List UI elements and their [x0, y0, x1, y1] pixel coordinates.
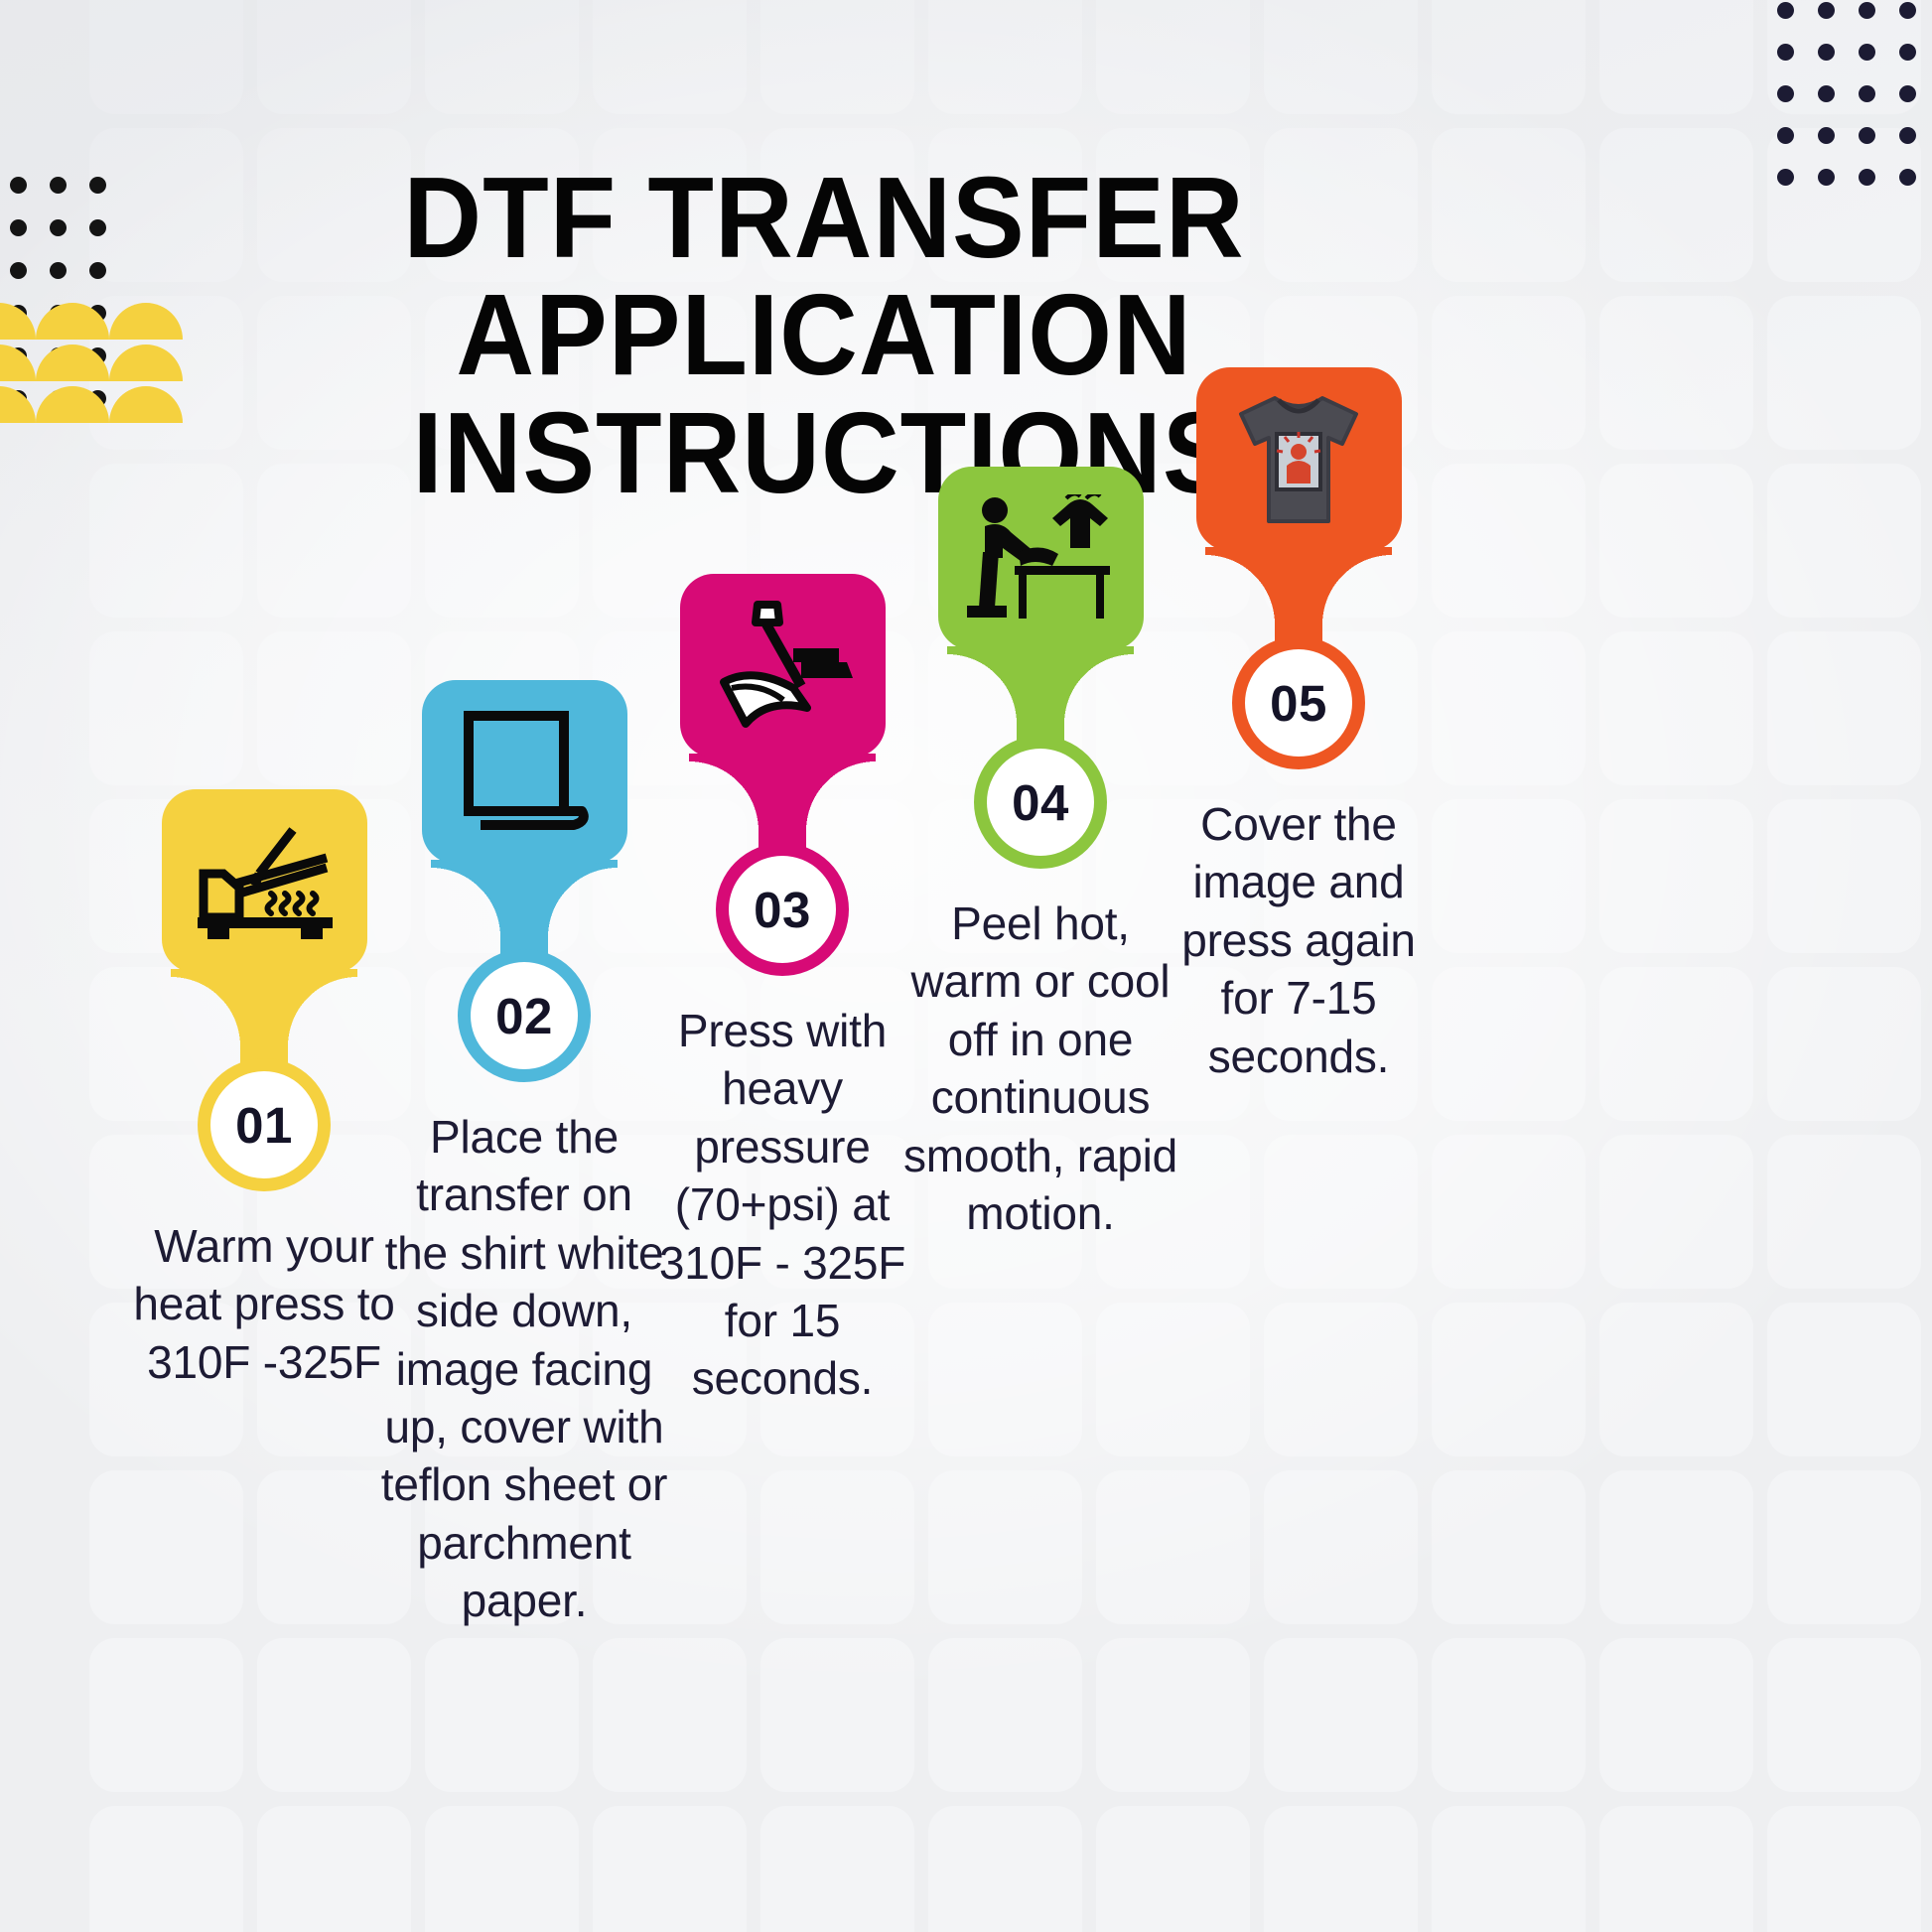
grid-tile — [1432, 128, 1586, 282]
grid-tile — [1432, 631, 1586, 785]
decor-semicircle — [36, 386, 109, 423]
step-number-label: 03 — [754, 881, 811, 939]
decor-semicircle — [0, 303, 36, 340]
step-marker-05: 05Cover the image and press again for 7-… — [1150, 367, 1448, 1085]
decor-dot — [1859, 44, 1875, 61]
grid-tile — [1599, 1135, 1753, 1289]
grid-tile — [1432, 1806, 1586, 1932]
grid-tile — [1096, 0, 1250, 114]
grid-tile — [928, 1470, 1082, 1624]
decor-dot — [1818, 85, 1835, 102]
decor-dot — [1777, 127, 1794, 144]
grid-tile — [1767, 1135, 1921, 1289]
grid-tile — [1767, 1638, 1921, 1792]
decor-dot — [1777, 85, 1794, 102]
decor-dot — [1859, 127, 1875, 144]
decor-dot — [10, 177, 27, 194]
neck-mask-left — [689, 754, 759, 831]
grid-tile — [89, 631, 243, 785]
grid-tile — [1432, 1470, 1586, 1624]
step-number-label: 04 — [1012, 773, 1069, 832]
grid-tile — [257, 0, 411, 114]
transfer-sheet-icon — [455, 708, 594, 837]
grid-tile — [1599, 1470, 1753, 1624]
grid-tile — [1599, 1638, 1753, 1792]
neck-mask-left — [1205, 547, 1275, 624]
grid-tile — [425, 1806, 579, 1932]
grid-tile — [89, 1806, 243, 1932]
neck-mask-right — [288, 969, 357, 1046]
decor-dot — [1859, 169, 1875, 186]
step-number-bubble-01: 01 — [198, 1058, 331, 1191]
grid-tile — [593, 1638, 747, 1792]
decor-dot — [1899, 127, 1916, 144]
grid-tile — [1096, 1470, 1250, 1624]
grid-tile — [1432, 799, 1586, 953]
decor-dot — [89, 390, 106, 407]
grid-tile — [1264, 0, 1418, 114]
step-marker-01: 01Warm your heat press to 310F -325F — [115, 789, 413, 1391]
grid-tile — [1096, 1638, 1250, 1792]
decor-dot — [1859, 2, 1875, 19]
grid-tile — [1599, 1303, 1753, 1456]
grid-tile — [1264, 1135, 1418, 1289]
grid-tile — [1599, 296, 1753, 450]
grid-tile — [1599, 464, 1753, 618]
grid-tile — [1264, 1638, 1418, 1792]
decor-dot — [89, 305, 106, 322]
decor-dot — [50, 177, 67, 194]
neck-mask-right — [806, 754, 876, 831]
decor-semicircle — [109, 303, 183, 340]
decor-dot — [10, 305, 27, 322]
decor-dot — [89, 347, 106, 364]
grid-tile — [1767, 1303, 1921, 1456]
grid-tile — [1599, 0, 1753, 114]
grid-tile — [928, 1638, 1082, 1792]
step-number-bubble-04: 04 — [974, 736, 1107, 869]
decor-dot — [1818, 2, 1835, 19]
grid-tile — [1767, 0, 1921, 114]
grid-tile — [1432, 1135, 1586, 1289]
decor-semicircle — [36, 345, 109, 381]
neck-mask-left — [947, 646, 1017, 724]
grid-tile — [593, 1806, 747, 1932]
step-number-label: 01 — [235, 1096, 293, 1155]
grid-tile — [1599, 1806, 1753, 1932]
decor-dot — [10, 390, 27, 407]
grid-tile — [1264, 1470, 1418, 1624]
grid-tile — [89, 1638, 243, 1792]
step-number-label: 02 — [495, 987, 553, 1045]
grid-tile — [1264, 1303, 1418, 1456]
grid-tile — [257, 1806, 411, 1932]
grid-tile — [928, 1806, 1082, 1932]
neck-mask-left — [431, 860, 500, 937]
decor-semicircle — [109, 386, 183, 423]
step-icon-card-05 — [1196, 367, 1402, 551]
grid-tile — [257, 1638, 411, 1792]
grid-tile — [1599, 967, 1753, 1121]
grid-tile — [760, 0, 914, 114]
grid-tile — [1599, 799, 1753, 953]
grid-tile — [425, 1638, 579, 1792]
grid-tile — [1432, 464, 1586, 618]
step-icon-card-03 — [680, 574, 886, 758]
decor-dot — [1859, 85, 1875, 102]
grid-tile — [1767, 464, 1921, 618]
step-caption-05: Cover the image and press again for 7-15… — [1155, 795, 1443, 1085]
step-marker-03: 03Press with heavy pressure (70+psi) at … — [633, 574, 931, 1408]
step-caption-04: Peel hot, warm or cool off in one contin… — [897, 895, 1184, 1242]
decor-dot — [1899, 44, 1916, 61]
decor-dot — [10, 347, 27, 364]
grid-tile — [1767, 296, 1921, 450]
decor-semicircle — [109, 345, 183, 381]
step-number-bubble-03: 03 — [716, 843, 849, 976]
grid-tile — [1767, 967, 1921, 1121]
grid-tile — [928, 1303, 1082, 1456]
decor-dot — [89, 177, 106, 194]
grid-tile — [1432, 1638, 1586, 1792]
neck-mask-left — [171, 969, 240, 1046]
step-marker-02: 02Place the transfer on the shirt white … — [375, 680, 673, 1630]
decor-dot — [1818, 169, 1835, 186]
grid-tile — [1264, 1806, 1418, 1932]
grid-tile — [1432, 967, 1586, 1121]
neck-mask-right — [1322, 547, 1392, 624]
decor-dot — [1818, 44, 1835, 61]
step-caption-02: Place the transfer on the shirt white si… — [380, 1108, 668, 1630]
infographic-poster: DTF TRANSFER APPLICATION INSTRUCTIONS — [0, 0, 1932, 1932]
heat-press-icon — [190, 822, 339, 941]
step-icon-card-04 — [938, 467, 1144, 650]
grid-tile — [1096, 1806, 1250, 1932]
grid-tile — [1767, 631, 1921, 785]
decor-dot — [50, 262, 67, 279]
decor-dot — [1777, 169, 1794, 186]
grid-tile — [760, 1806, 914, 1932]
step-caption-03: Press with heavy pressure (70+psi) at 31… — [638, 1002, 926, 1408]
grid-tile — [1096, 1303, 1250, 1456]
decor-semicircle — [0, 386, 36, 423]
grid-tile — [1767, 1806, 1921, 1932]
decor-dot — [1777, 2, 1794, 19]
grid-tile — [1432, 296, 1586, 450]
step-icon-card-02 — [422, 680, 627, 864]
decor-dot — [50, 347, 67, 364]
grid-tile — [1767, 1470, 1921, 1624]
grid-tile — [1432, 0, 1586, 114]
decor-dot — [50, 305, 67, 322]
grid-tile — [1599, 631, 1753, 785]
decor-dot — [89, 219, 106, 236]
peeling-person-icon — [961, 494, 1120, 623]
decor-semicircle — [36, 303, 109, 340]
step-marker-04: 04Peel hot, warm or cool off in one cont… — [892, 467, 1189, 1242]
step-number-label: 05 — [1270, 674, 1327, 733]
decor-dot — [50, 390, 67, 407]
decor-semicircle — [0, 345, 36, 381]
grid-tile — [1767, 128, 1921, 282]
press-squeegee-icon — [706, 597, 860, 736]
decor-dot — [1899, 85, 1916, 102]
decor-dot — [1899, 2, 1916, 19]
neck-mask-right — [1064, 646, 1134, 724]
grid-tile — [760, 1470, 914, 1624]
decor-dot — [1818, 127, 1835, 144]
grid-tile — [89, 1470, 243, 1624]
step-number-bubble-05: 05 — [1232, 636, 1365, 769]
decor-dot — [1899, 169, 1916, 186]
decor-dot — [10, 262, 27, 279]
neck-mask-right — [548, 860, 618, 937]
grid-tile — [1767, 799, 1921, 953]
grid-tile — [760, 1638, 914, 1792]
decor-dot — [1777, 44, 1794, 61]
printed-tshirt-icon — [1219, 390, 1378, 529]
decor-teal-circle — [1779, 57, 1932, 409]
grid-tile — [89, 0, 243, 114]
grid-tile — [1599, 128, 1753, 282]
grid-tile — [928, 0, 1082, 114]
grid-tile — [425, 0, 579, 114]
decor-dot — [89, 262, 106, 279]
step-icon-card-01 — [162, 789, 367, 973]
grid-tile — [593, 0, 747, 114]
step-number-bubble-02: 02 — [458, 949, 591, 1082]
grid-tile — [1432, 1303, 1586, 1456]
step-caption-01: Warm your heat press to 310F -325F — [120, 1217, 408, 1391]
decor-dot — [10, 219, 27, 236]
decor-dot — [50, 219, 67, 236]
